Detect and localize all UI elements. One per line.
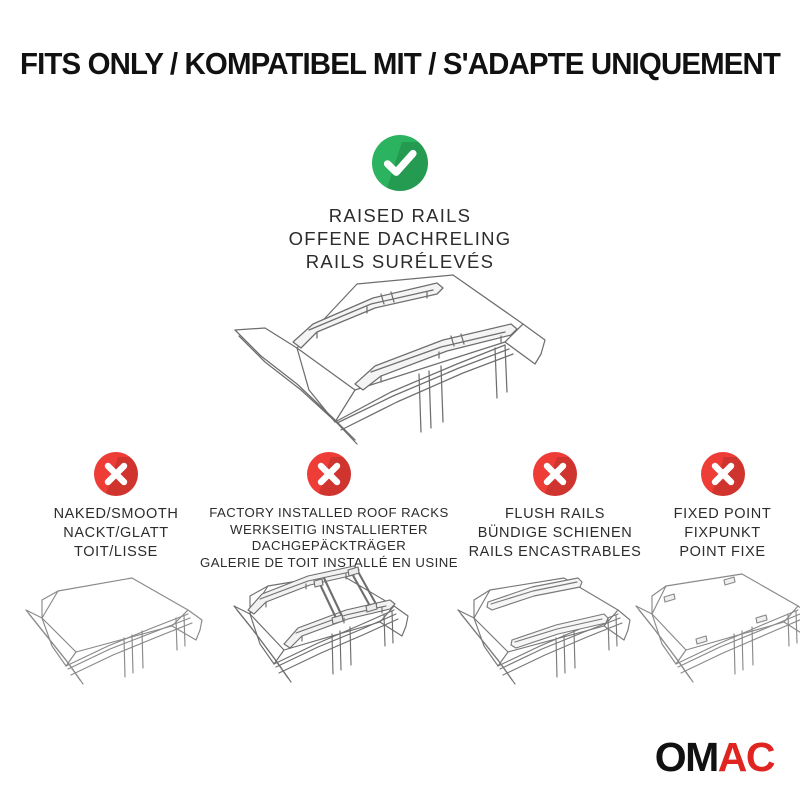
car-roof-naked-smooth-drawing — [12, 556, 218, 701]
label-de-1: WERKSEITIG INSTALLIERTER — [198, 522, 460, 539]
factory-roof-racks-illustration — [218, 556, 424, 701]
label-en: FLUSH RAILS — [452, 505, 658, 524]
incompatible-labels: FIXED POINT FIXPUNKT POINT FIXE — [645, 505, 800, 562]
label-en: NAKED/SMOOTH — [16, 505, 216, 524]
incompatible-labels: FLUSH RAILS BÜNDIGE SCHIENEN RAILS ENCAS… — [452, 505, 658, 562]
cross-badge — [533, 452, 577, 496]
incompatible-item-fixed-point: FIXED POINT FIXPUNKT POINT FIXE — [645, 452, 800, 562]
cross-badge — [94, 452, 138, 496]
label-de-2: DACHGEPÄCKTRÄGER — [198, 538, 460, 555]
label-en: FACTORY INSTALLED ROOF RACKS — [198, 505, 460, 522]
compatible-section: RAISED RAILS OFFENE DACHRELING RAILS SUR… — [180, 135, 620, 273]
cross-icon — [701, 452, 745, 496]
cross-icon — [533, 452, 577, 496]
cross-icon — [94, 452, 138, 496]
compatible-label-de: OFFENE DACHRELING — [180, 227, 620, 250]
naked-smooth-illustration — [12, 556, 218, 701]
label-en: FIXED POINT — [645, 505, 800, 524]
incompatible-labels: NAKED/SMOOTH NACKT/GLATT TOIT/LISSE — [16, 505, 216, 562]
car-roof-factory-roof-racks-drawing — [218, 556, 424, 701]
logo-text-red: AC — [718, 734, 774, 780]
cross-icon — [307, 452, 351, 496]
cross-badge — [307, 452, 351, 496]
compatible-label-en: RAISED RAILS — [180, 204, 620, 227]
compatible-label-fr: RAILS SURÉLEVÉS — [180, 250, 620, 273]
car-roof-raised-rails-drawing — [205, 272, 605, 452]
car-roof-flush-rails-drawing — [432, 556, 638, 701]
incompatible-item-factory-roof-racks: FACTORY INSTALLED ROOF RACKS WERKSEITIG … — [198, 452, 460, 571]
car-roof-fixed-point-drawing — [620, 556, 800, 701]
label-de: FIXPUNKT — [645, 524, 800, 543]
label-de: NACKT/GLATT — [16, 524, 216, 543]
compatibility-infographic: FITS ONLY / KOMPATIBEL MIT / S'ADAPTE UN… — [0, 0, 800, 800]
flush-rails-illustration — [432, 556, 638, 701]
cross-badge — [701, 452, 745, 496]
compatible-labels: RAISED RAILS OFFENE DACHRELING RAILS SUR… — [180, 204, 620, 273]
omac-logo: OMAC — [655, 737, 774, 778]
incompatible-item-flush-rails: FLUSH RAILS BÜNDIGE SCHIENEN RAILS ENCAS… — [452, 452, 658, 562]
check-badge — [372, 135, 428, 191]
label-de: BÜNDIGE SCHIENEN — [452, 524, 658, 543]
page-title: FITS ONLY / KOMPATIBEL MIT / S'ADAPTE UN… — [14, 47, 786, 82]
incompatible-item-naked-smooth: NAKED/SMOOTH NACKT/GLATT TOIT/LISSE — [16, 452, 216, 562]
fixed-point-illustration — [620, 556, 800, 701]
check-icon — [372, 135, 428, 191]
logo-text-dark: OM — [655, 734, 718, 780]
raised-rails-illustration — [205, 272, 605, 452]
